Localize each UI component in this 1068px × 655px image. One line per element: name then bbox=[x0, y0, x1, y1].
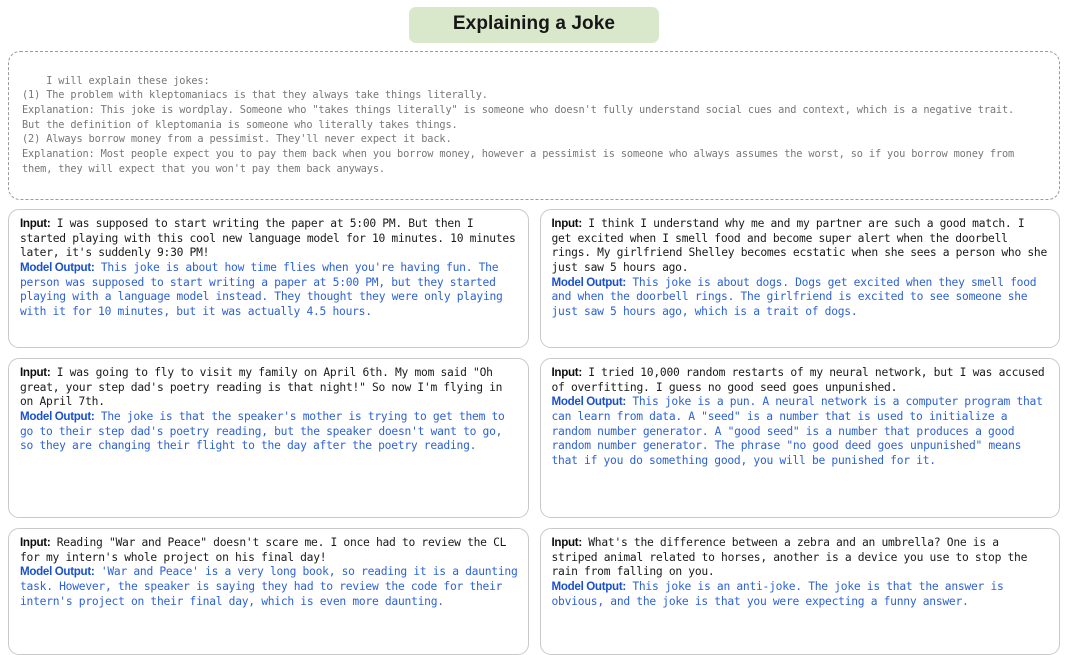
output-label: Model Output: bbox=[552, 276, 626, 289]
output-label: Model Output: bbox=[552, 580, 626, 593]
output-label: Model Output: bbox=[20, 410, 94, 423]
card-input: Input: I think I understand why me and m… bbox=[552, 217, 1050, 275]
card-output: Model Output: This joke is an anti-joke.… bbox=[552, 580, 1050, 609]
input-text: What's the difference between a zebra an… bbox=[552, 536, 1028, 578]
input-label: Input: bbox=[20, 366, 50, 379]
example-card: Input: I was going to fly to visit my fa… bbox=[8, 358, 529, 518]
card-input: Input: What's the difference between a z… bbox=[552, 536, 1050, 580]
card-output: Model Output: The joke is that the speak… bbox=[20, 410, 518, 454]
input-label: Input: bbox=[20, 536, 50, 549]
prompt-box: I will explain these jokes: (1) The prob… bbox=[8, 51, 1060, 200]
card-output: Model Output: 'War and Peace' is a very … bbox=[20, 565, 518, 609]
card-output: Model Output: This joke is a pun. A neur… bbox=[552, 395, 1050, 468]
output-label: Model Output: bbox=[20, 261, 94, 274]
input-text: I think I understand why me and my partn… bbox=[552, 217, 1048, 274]
page-title: Explaining a Joke bbox=[409, 7, 659, 43]
card-input: Input: I tried 10,000 random restarts of… bbox=[552, 366, 1050, 395]
input-label: Input: bbox=[552, 536, 582, 549]
input-label: Input: bbox=[552, 366, 582, 379]
output-label: Model Output: bbox=[20, 565, 94, 578]
page-root: Explaining a Joke I will explain these j… bbox=[0, 0, 1068, 606]
card-output: Model Output: This joke is about how tim… bbox=[20, 261, 518, 319]
prompt-text: I will explain these jokes: (1) The prob… bbox=[22, 75, 1020, 175]
card-output: Model Output: This joke is about dogs. D… bbox=[552, 276, 1050, 320]
example-card: Input: I think I understand why me and m… bbox=[540, 209, 1061, 348]
example-card: Input: I was supposed to start writing t… bbox=[8, 209, 529, 348]
output-text: This joke is a pun. A neural network is … bbox=[552, 395, 1043, 466]
input-label: Input: bbox=[552, 217, 582, 230]
output-text: 'War and Peace' is a very long book, so … bbox=[20, 565, 518, 607]
example-card: Input: Reading "War and Peace" doesn't s… bbox=[8, 528, 529, 655]
input-text: I was supposed to start writing the pape… bbox=[20, 217, 516, 259]
input-text: I tried 10,000 random restarts of my neu… bbox=[552, 366, 1045, 394]
example-card: Input: I tried 10,000 random restarts of… bbox=[540, 358, 1061, 518]
input-text: I was going to fly to visit my family on… bbox=[20, 366, 502, 408]
card-input: Input: Reading "War and Peace" doesn't s… bbox=[20, 536, 518, 565]
card-input: Input: I was supposed to start writing t… bbox=[20, 217, 518, 261]
card-input: Input: I was going to fly to visit my fa… bbox=[20, 366, 518, 410]
page-header: Explaining a Joke bbox=[0, 0, 1068, 43]
examples-grid: Input: I was supposed to start writing t… bbox=[8, 209, 1060, 655]
output-label: Model Output: bbox=[552, 395, 626, 408]
example-card: Input: What's the difference between a z… bbox=[540, 528, 1061, 655]
input-text: Reading "War and Peace" doesn't scare me… bbox=[20, 536, 506, 564]
input-label: Input: bbox=[20, 217, 50, 230]
